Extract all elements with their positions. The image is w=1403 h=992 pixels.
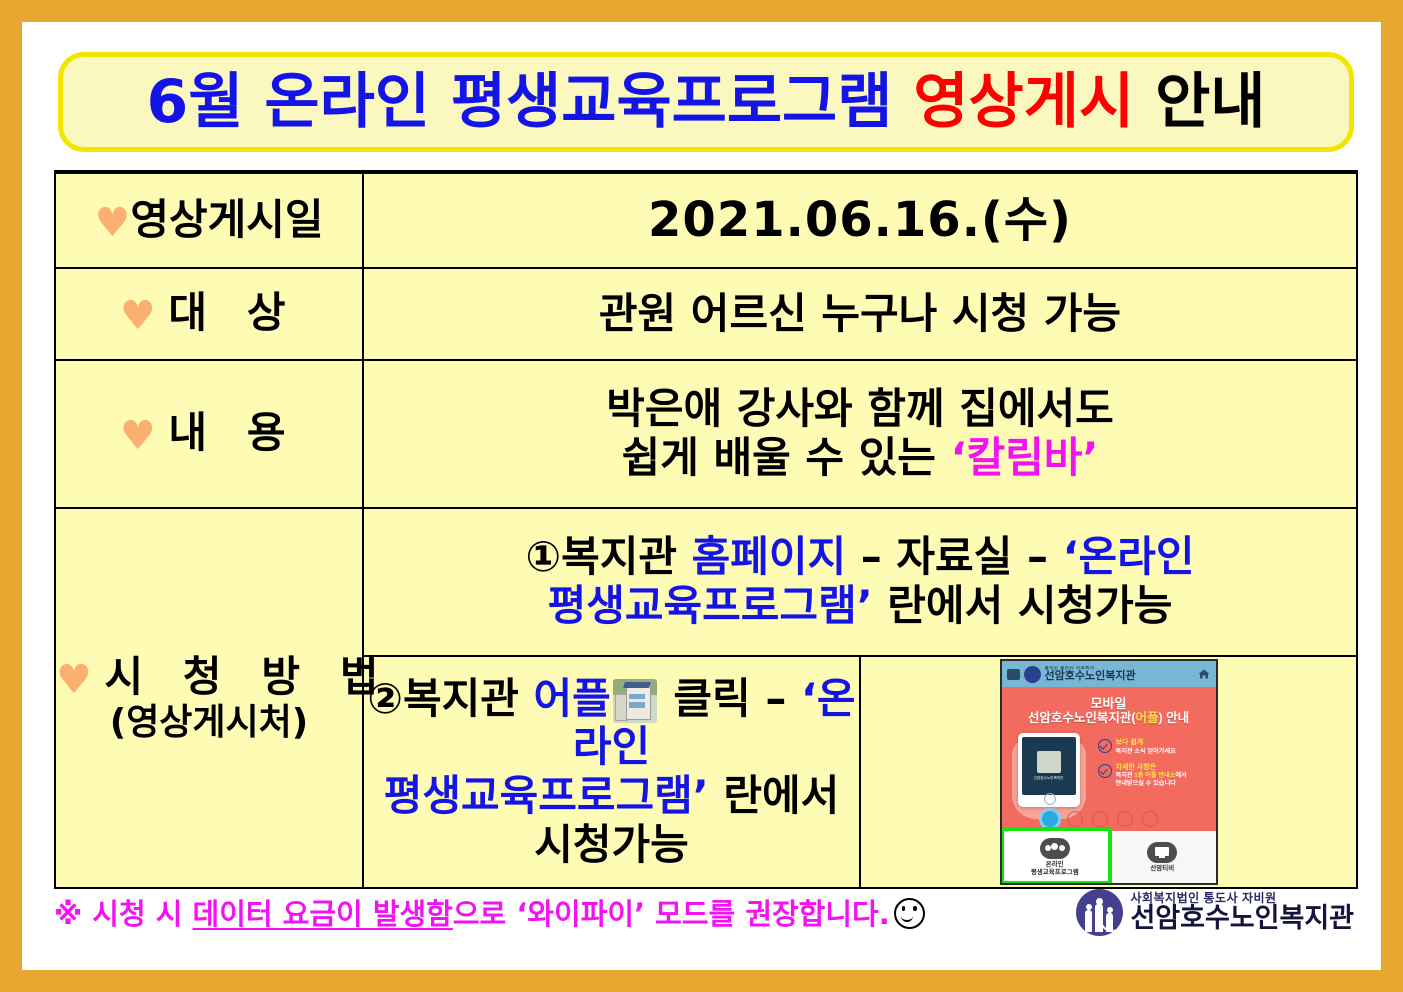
checklist-desc-c: 에서 <box>1175 772 1186 779</box>
title-part-black: 안내 <box>1155 67 1265 137</box>
heart-icon: ♥ <box>56 657 92 703</box>
hamburger-menu-icon[interactable] <box>1007 669 1020 680</box>
smiley-icon <box>894 898 925 929</box>
content-line-2-plain: 쉽게 배울 수 있는 <box>622 433 951 482</box>
method1-line-2: 평생교육프로그램’ 란에서 시청가능 <box>364 582 1356 631</box>
phone-button-label-line1: 온라인 <box>1046 861 1064 868</box>
home-icon[interactable] <box>1197 668 1211 680</box>
checklist-desc-line2: 안내받으실 수 있습니다 <box>1116 780 1187 788</box>
row-label-audience: ♥대 상 <box>55 268 363 360</box>
method2-blue3: 평생교육프로그램’ <box>384 771 709 820</box>
method1-blue3: 평생교육프로그램’ <box>548 581 873 630</box>
method2-app: 어플 <box>534 674 611 723</box>
table-row: ♥내 용 박은애 강사와 함께 집에서도 쉽게 배울 수 있는 ‘칼림바’ <box>55 360 1357 508</box>
footer: ※ 시청 시 데이터 요금이 발생함으로 ‘와이파이’ 모드를 권장합니다. 사… <box>54 880 1358 944</box>
checklist-title: 자세한 사항은 <box>1116 764 1187 773</box>
method1-p3: 란에서 시청가능 <box>873 581 1173 630</box>
method1-blue2: ‘온라인 <box>1063 532 1195 581</box>
phone-menu-buttons: 온라인 평생교육프로그램 선암티비 <box>1002 831 1216 883</box>
promo-checklist: 보다 쉽게 복지관 소식 얻어가세요 자세한 사항은 복지관 1층 <box>1098 739 1211 796</box>
footer-note-underlined: 데이터 요금이 발생함 <box>193 897 453 931</box>
method2-marker: ② <box>367 674 403 723</box>
device-home-button-icon <box>1044 793 1056 805</box>
carousel-dot-4[interactable] <box>1117 811 1133 827</box>
phone-button-seonam-tv[interactable]: 선암티비 <box>1108 831 1216 883</box>
table-row: ♥영상게시일 2021.06.16.(수) <box>55 172 1357 268</box>
tv-monitor-icon <box>1147 842 1177 863</box>
method1-marker: ① <box>526 532 562 581</box>
title-part-blue: 6월 온라인 평생교육프로그램 <box>147 67 893 137</box>
row-label-text: 시 청 방 법 <box>92 652 391 701</box>
method2-p1: 복지관 <box>403 674 534 723</box>
row-label-sub: (영상게시처) <box>56 703 362 743</box>
carousel-dot-5[interactable] <box>1142 811 1158 827</box>
device-app-icon <box>1037 751 1061 773</box>
poster-title-box: 6월 온라인 평생교육프로그램 영상게시 안내 <box>58 52 1354 152</box>
footer-note: ※ 시청 시 데이터 요금이 발생함으로 ‘와이파이’ 모드를 권장합니다. <box>54 891 925 933</box>
method1-p2: – 자료실 – <box>846 532 1062 581</box>
checklist-desc-b: 1층 어플 안내소 <box>1134 772 1175 779</box>
phone-button-online-program[interactable]: 온라인 평생교육프로그램 <box>1002 831 1109 883</box>
content-instrument-name: ‘칼림바’ <box>951 433 1099 482</box>
device-screen: 선암호수노인복지관 <box>1022 737 1076 795</box>
how-to-watch-method-1: ①복지관 홈페이지 – 자료실 – ‘온라인 평생교육프로그램’ 란에서 시청가… <box>363 508 1357 656</box>
footer-note-a: 시청 시 <box>82 897 192 931</box>
phone-button-label-line2: 평생교육프로그램 <box>1031 869 1079 876</box>
method1-homepage: 홈페이지 <box>692 532 847 581</box>
phone-button-label-line1: 선암티비 <box>1150 865 1174 873</box>
promo-line-2-b: 어플 <box>1136 711 1159 725</box>
poster-inner: 6월 온라인 평생교육프로그램 영상게시 안내 ♥영상게시일 2021.06.1… <box>48 44 1355 948</box>
footer-mark: ※ <box>54 897 82 931</box>
device-illustration: 선암호수노인복지관 <box>1018 733 1080 807</box>
method2-line-2: 평생교육프로그램’ 란에서 시청가능 <box>364 772 859 869</box>
row-label-content: ♥내 용 <box>55 360 363 508</box>
checklist-item: 자세한 사항은 복지관 1층 어플 안내소에서 안내받으실 수 있습니다 <box>1098 764 1211 788</box>
phone-mockup: 울주군 울산시 사회복지 선암호수노인복지관 모바일 선암호수노인복지관(어플)… <box>1000 659 1218 885</box>
checklist-desc: 복지관 소식 얻어가세요 <box>1116 748 1176 756</box>
method1-line-1: ①복지관 홈페이지 – 자료실 – ‘온라인 <box>364 533 1356 582</box>
checklist-desc-a: 복지관 <box>1116 772 1135 779</box>
checklist-item: 보다 쉽게 복지관 소식 얻어가세요 <box>1098 739 1211 756</box>
heart-icon: ♥ <box>120 293 156 339</box>
brand-name: 선암호수노인복지관 <box>1130 905 1354 933</box>
row-label-broadcast-date: ♥영상게시일 <box>55 172 363 268</box>
phone-header-title: 울주군 울산시 사회복지 선암호수노인복지관 <box>1045 666 1193 682</box>
title-part-red: 영상게시 <box>913 67 1134 137</box>
row-label-text: 대 상 <box>156 288 298 337</box>
phone-promo-banner: 모바일 선암호수노인복지관(어플) 안내 선암호수노인복지관 <box>1002 687 1216 831</box>
row-value-broadcast-date: 2021.06.16.(수) <box>363 172 1357 268</box>
row-label-text: 영상게시일 <box>130 195 323 244</box>
device-app-label: 선암호수노인복지관 <box>1034 776 1064 781</box>
checklist-desc-line1: 복지관 1층 어플 안내소에서 <box>1116 772 1187 780</box>
page-title: 6월 온라인 평생교육프로그램 영상게시 안내 <box>147 72 1266 132</box>
promo-line-2-c: ) 안내 <box>1159 711 1190 725</box>
row-value-content: 박은애 강사와 함께 집에서도 쉽게 배울 수 있는 ‘칼림바’ <box>363 360 1357 508</box>
row-label-how-to-watch: ♥시 청 방 법 (영상게시처) <box>55 508 363 888</box>
method2-p2: 클릭 – <box>659 674 801 723</box>
content-line-1: 박은애 강사와 함께 집에서도 <box>364 385 1356 434</box>
carousel-dot-3[interactable] <box>1092 811 1108 827</box>
phone-app-header: 울주군 울산시 사회복지 선암호수노인복지관 <box>1002 661 1216 687</box>
heart-icon: ♥ <box>120 413 156 459</box>
promo-line-1: 모바일 <box>1002 696 1216 711</box>
method1-p1: 복지관 <box>561 532 692 581</box>
promo-line-2-a: 선암호수노인복지관( <box>1028 711 1136 725</box>
footer-note-b: 으로 ‘와이파이’ 모드를 권장합니다. <box>453 897 890 931</box>
table-row: ♥대 상 관원 어르신 누구나 시청 가능 <box>55 268 1357 360</box>
table-row: ♥시 청 방 법 (영상게시처) ①복지관 홈페이지 – 자료실 – ‘온라인 … <box>55 508 1357 656</box>
app-logo-icon <box>1024 666 1041 683</box>
how-to-watch-method-2: ②복지관 어플 클릭 – ‘온라인 평생교육프로그램’ 란에서 시청가능 <box>363 656 860 888</box>
logo-mark-icon <box>1076 889 1123 936</box>
carousel-dots[interactable] <box>1042 811 1158 827</box>
phone-header-name: 선암호수노인복지관 <box>1045 671 1193 682</box>
info-table: ♥영상게시일 2021.06.16.(수) ♥대 상 관원 어르신 누구나 시청… <box>54 170 1358 889</box>
heart-icon: ♥ <box>94 200 130 246</box>
method2-line-1: ②복지관 어플 클릭 – ‘온라인 <box>364 675 859 772</box>
checklist-title: 보다 쉽게 <box>1116 739 1176 748</box>
promo-line-2: 선암호수노인복지관(어플) 안내 <box>1002 711 1216 726</box>
check-circle-icon <box>1098 764 1112 778</box>
app-building-icon <box>613 679 657 723</box>
row-label-text: 내 용 <box>156 408 298 457</box>
row-value-audience: 관원 어르신 누구나 시청 가능 <box>363 268 1357 360</box>
group-people-icon <box>1040 838 1070 859</box>
carousel-dot-2[interactable] <box>1067 811 1083 827</box>
content-line-2: 쉽게 배울 수 있는 ‘칼림바’ <box>364 434 1356 483</box>
organization-logo: 사회복지법인 통도사 자비원 선암호수노인복지관 <box>1076 889 1354 936</box>
poster-frame: 6월 온라인 평생교육프로그램 영상게시 안내 ♥영상게시일 2021.06.1… <box>0 0 1403 992</box>
carousel-dot-1[interactable] <box>1042 811 1058 827</box>
check-circle-icon <box>1098 739 1112 753</box>
phone-mockup-cell: 울주군 울산시 사회복지 선암호수노인복지관 모바일 선암호수노인복지관(어플)… <box>860 656 1357 888</box>
